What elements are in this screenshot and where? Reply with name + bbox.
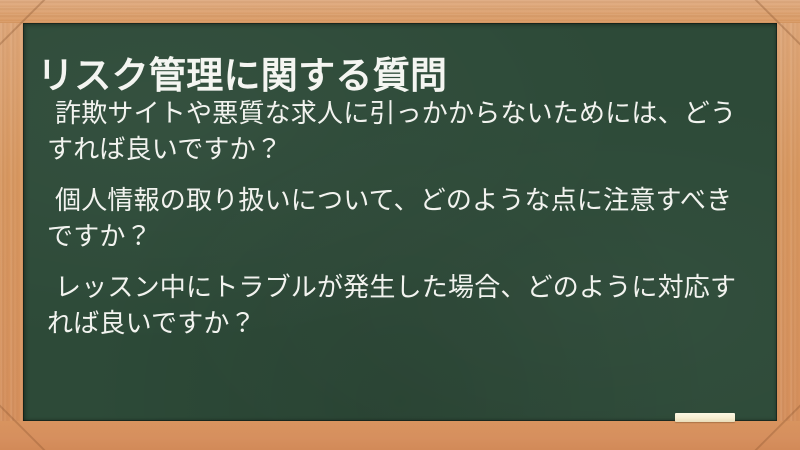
chalk-stick-icon [675,413,735,422]
slide-title: リスク管理に関する質問 [37,53,763,98]
chalkboard-surface: リスク管理に関する質問 詐欺サイトや悪質な求人に引っかからないためには、どうすれ… [23,23,777,421]
frame-bottom-ledge [0,421,800,450]
question-item-2: 個人情報の取り扱いについて、どのような点に注意すべきですか？ [47,182,757,255]
question-item-1: 詐欺サイトや悪質な求人に引っかからないためには、どうすれば良いですか？ [47,95,757,168]
slide-content: リスク管理に関する質問 詐欺サイトや悪質な求人に引っかからないためには、どうすれ… [23,23,777,421]
chalkboard-slide: リスク管理に関する質問 詐欺サイトや悪質な求人に引っかからないためには、どうすれ… [0,0,800,450]
frame-top-rail [0,0,800,23]
question-item-3: レッスン中にトラブルが発生した場合、どのように対応すれば良いですか？ [47,269,757,342]
question-list: 詐欺サイトや悪質な求人に引っかからないためには、どうすれば良いですか？ 個人情報… [47,95,757,341]
